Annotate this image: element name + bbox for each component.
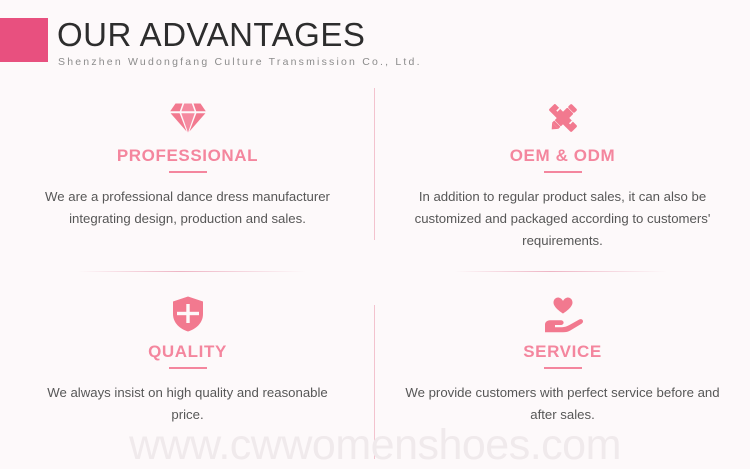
vertical-divider-bottom bbox=[374, 305, 375, 459]
diamond-icon bbox=[166, 98, 210, 138]
hand-heart-icon bbox=[541, 294, 585, 334]
feature-title: PROFESSIONAL bbox=[117, 146, 258, 166]
shield-icon bbox=[166, 294, 210, 334]
feature-title: OEM & ODM bbox=[510, 146, 616, 166]
page-header: OUR ADVANTAGES Shenzhen Wudongfang Cultu… bbox=[0, 0, 750, 82]
horizontal-divider-right bbox=[455, 271, 667, 272]
feature-card-oem-odm: OEM & ODM In addition to regular product… bbox=[375, 82, 750, 271]
page-title: OUR ADVANTAGES bbox=[57, 15, 365, 54]
feature-title-rule bbox=[544, 171, 582, 173]
feature-title: SERVICE bbox=[523, 342, 602, 362]
feature-card-service: SERVICE We provide customers with perfec… bbox=[375, 278, 750, 467]
feature-description: We provide customers with perfect servic… bbox=[403, 382, 723, 426]
feature-title-rule bbox=[169, 367, 207, 369]
feature-card-professional: PROFESSIONAL We are a professional dance… bbox=[0, 82, 375, 271]
pencil-ruler-icon bbox=[541, 98, 585, 138]
advantages-grid: PROFESSIONAL We are a professional dance… bbox=[0, 82, 750, 469]
feature-title: QUALITY bbox=[148, 342, 227, 362]
feature-title-rule bbox=[544, 367, 582, 369]
horizontal-divider-left bbox=[78, 271, 306, 272]
feature-title-rule bbox=[169, 171, 207, 173]
header-accent-block bbox=[0, 18, 48, 62]
feature-card-quality: QUALITY We always insist on high quality… bbox=[0, 278, 375, 467]
feature-description: We are a professional dance dress manufa… bbox=[38, 186, 338, 230]
feature-description: We always insist on high quality and rea… bbox=[38, 382, 338, 426]
feature-description: In addition to regular product sales, it… bbox=[403, 186, 723, 252]
company-name-subtitle: Shenzhen Wudongfang Culture Transmission… bbox=[58, 55, 422, 69]
vertical-divider-top bbox=[374, 88, 375, 240]
